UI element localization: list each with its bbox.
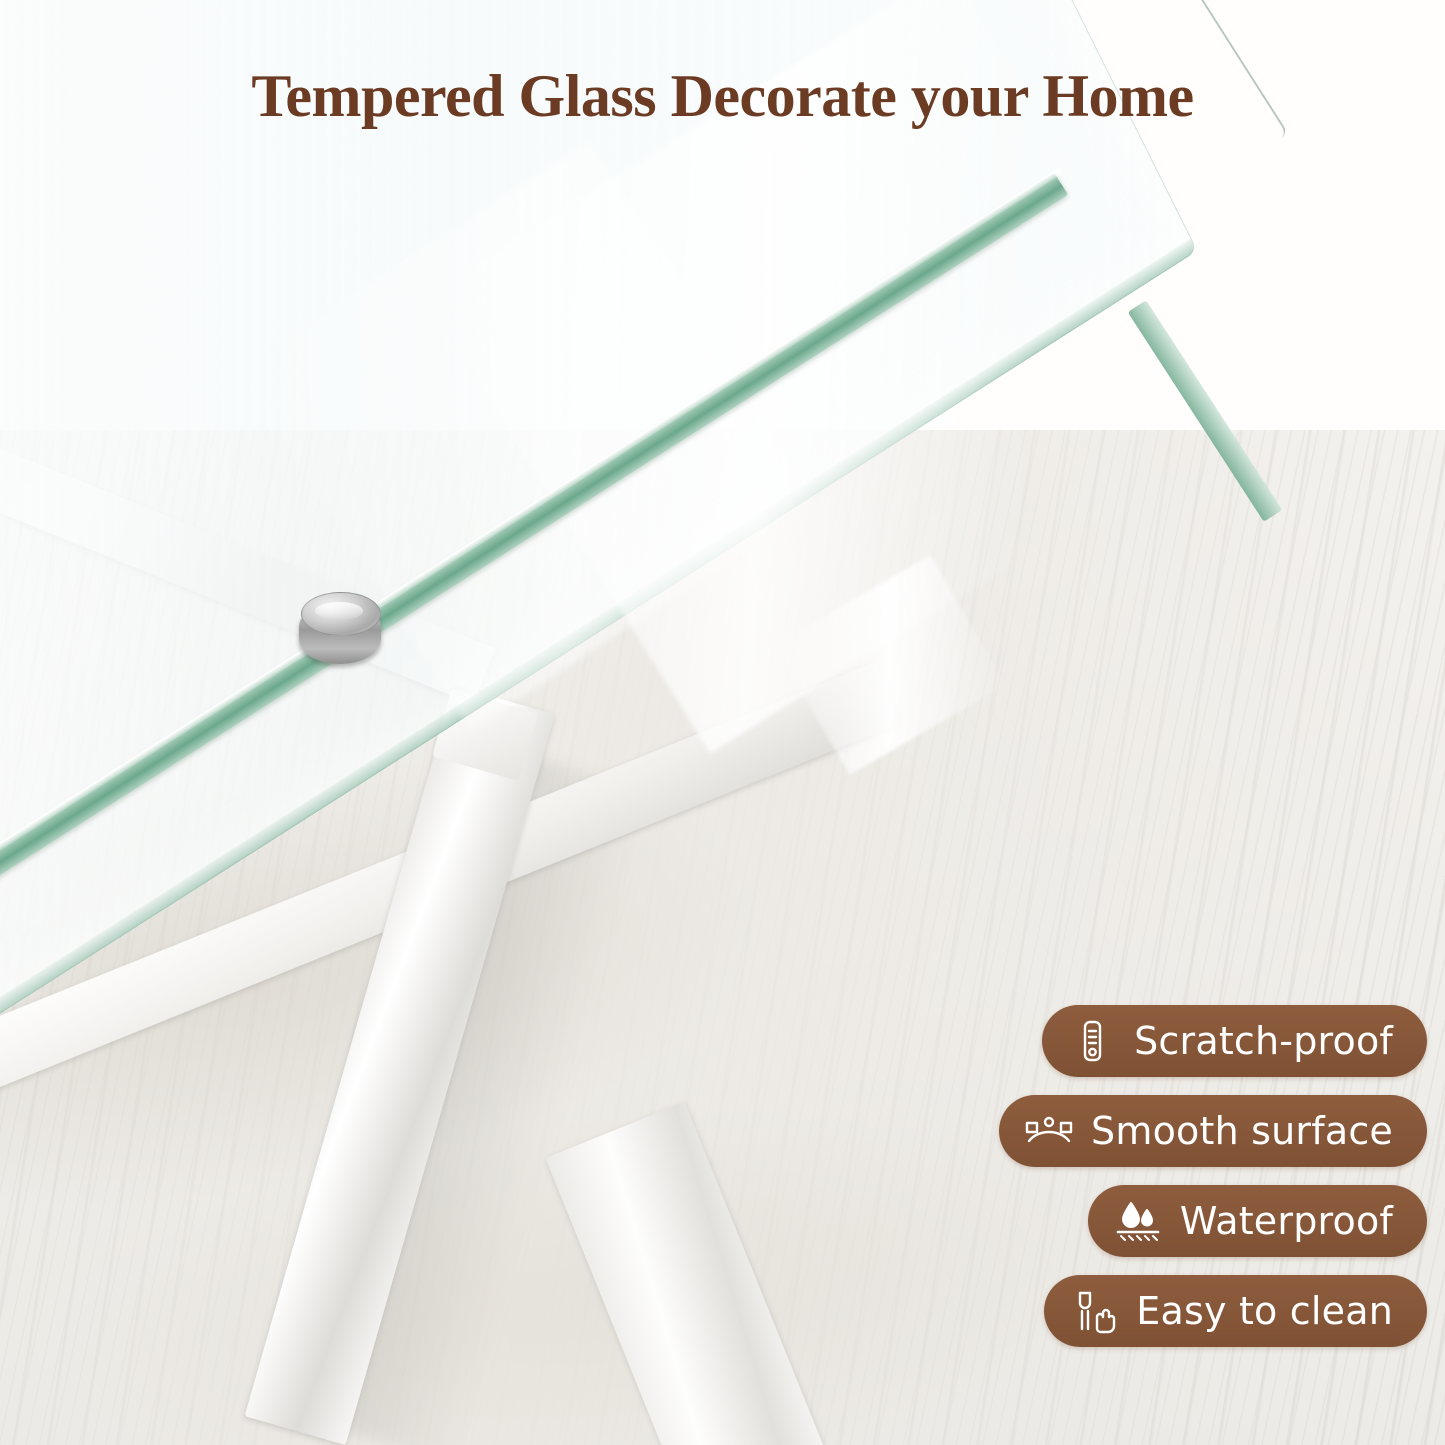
chrome-screw-knob — [299, 592, 381, 674]
cleaning-hand-icon — [1070, 1287, 1118, 1335]
smooth-curve-icon — [1025, 1107, 1073, 1155]
feature-badge-label: Smooth surface — [1091, 1112, 1393, 1150]
feature-badge-label: Scratch-proof — [1134, 1022, 1393, 1060]
feature-badge-label: Easy to clean — [1136, 1292, 1393, 1330]
feature-badge-label: Waterproof — [1180, 1202, 1393, 1240]
page-title: Tempered Glass Decorate your Home — [0, 62, 1445, 131]
cutter-blade-icon — [1068, 1017, 1116, 1065]
feature-badge-list: Scratch-proof Smooth surface — [927, 1005, 1427, 1347]
water-drop-icon — [1114, 1197, 1162, 1245]
feature-badge-scratch-proof[interactable]: Scratch-proof — [1042, 1005, 1427, 1077]
product-feature-image: Tempered Glass Decorate your Home Scratc… — [0, 0, 1445, 1445]
knob-cap — [301, 592, 381, 636]
feature-badge-waterproof[interactable]: Waterproof — [1088, 1185, 1427, 1257]
feature-badge-easy-to-clean[interactable]: Easy to clean — [1044, 1275, 1427, 1347]
feature-badge-smooth-surface[interactable]: Smooth surface — [999, 1095, 1427, 1167]
